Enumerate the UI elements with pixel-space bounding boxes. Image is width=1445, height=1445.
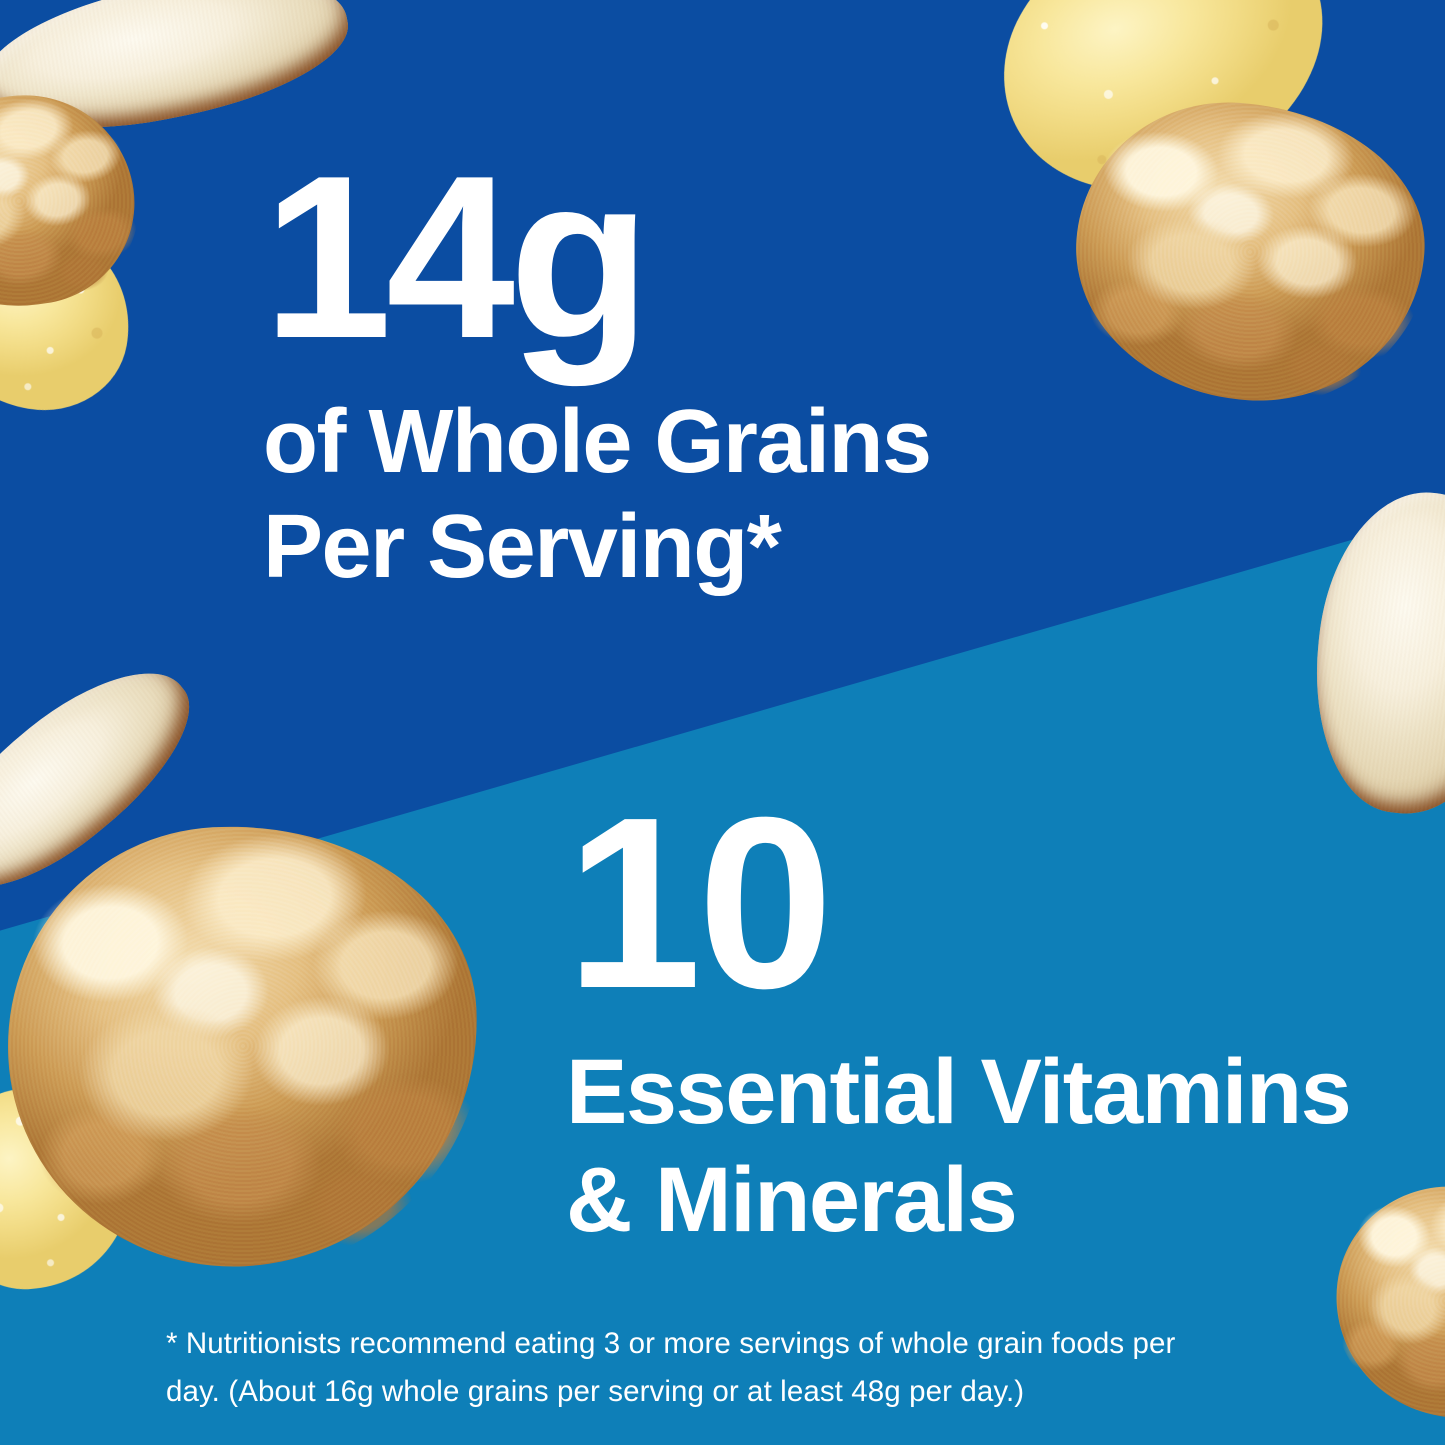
claim-vitamins-minerals-stat: 10 [566,790,1426,1017]
claim-whole-grains-caption: of Whole Grains Per Serving* [263,390,1083,601]
nutrition-claim-panel: 14g of Whole Grains Per Serving* 10 Esse… [0,0,1445,1445]
footnote-line-1: * Nutritionists recommend eating 3 or mo… [166,1320,1306,1368]
footnote-line-2: day. (About 16g whole grains per serving… [166,1368,1306,1416]
claim-whole-grains: 14g of Whole Grains Per Serving* [263,150,1083,600]
claim-vitamins-minerals-caption: Essential Vitamins & Minerals [566,1039,1426,1254]
claim-vitamins-minerals: 10 Essential Vitamins & Minerals [566,790,1426,1254]
claim-whole-grains-stat: 14g [263,150,1083,366]
footnote-disclaimer: * Nutritionists recommend eating 3 or mo… [166,1320,1306,1416]
